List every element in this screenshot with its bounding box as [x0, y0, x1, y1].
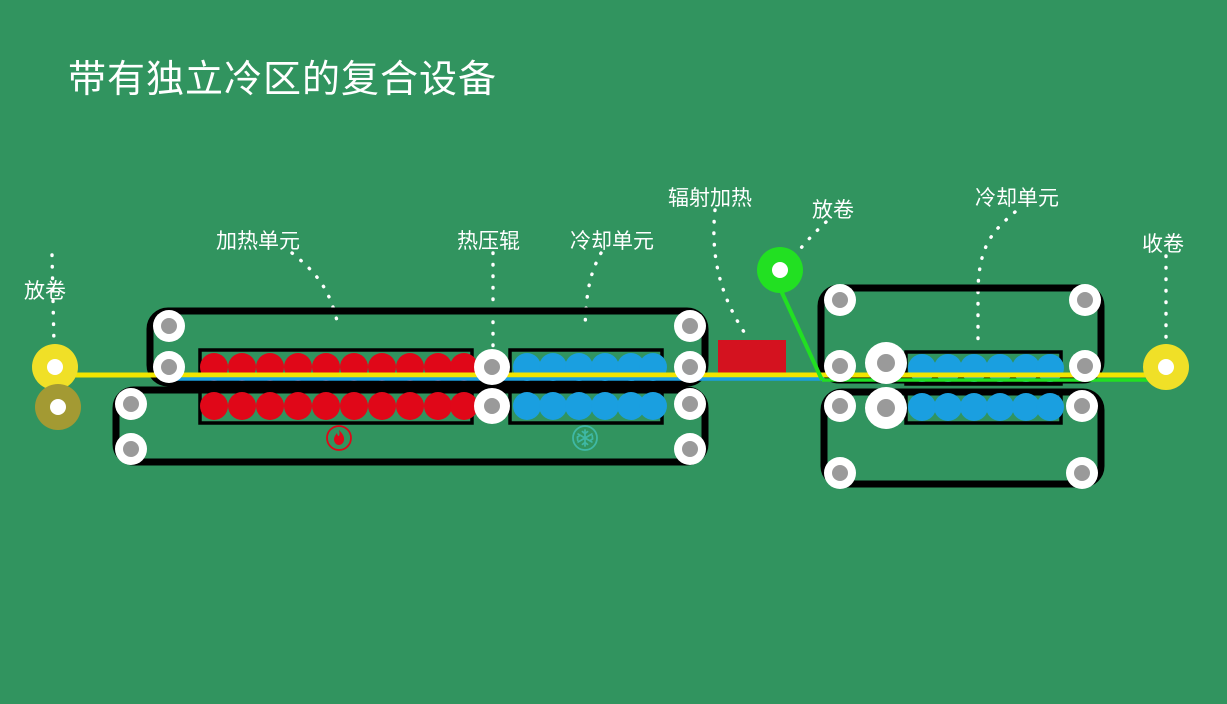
leader-unwind-right	[792, 222, 826, 260]
roller-left-bottom-out-upper	[674, 388, 706, 420]
roller-right-bottom-out-lower	[1066, 457, 1098, 489]
roller-right-top-nip	[865, 342, 907, 384]
leader-unwind-left	[52, 255, 54, 345]
roller-right-bottom-nip	[865, 387, 907, 429]
roller-left-bottom-out-lower	[674, 433, 706, 465]
roller-right-bottom-in-lower	[824, 457, 856, 489]
roller-left-top-out-upper	[674, 310, 706, 342]
right-cooling-circles-bottom	[908, 393, 1064, 421]
roller-right-bottom-out-upper	[1066, 390, 1098, 422]
radiant-heater-block	[718, 340, 786, 374]
leader-cooling-right	[978, 212, 1015, 348]
roller-right-top-in-lower	[824, 350, 856, 382]
unwind-roll-green[interactable]	[757, 247, 803, 293]
flame-icon	[327, 426, 351, 450]
leader-radiant	[714, 210, 748, 338]
hot-press-roller-bottom	[474, 388, 510, 424]
snowflake-icon	[573, 426, 597, 450]
unwind-roll-top[interactable]	[32, 344, 78, 390]
roller-right-top-out-lower	[1069, 350, 1101, 382]
machine-diagram	[0, 0, 1227, 704]
roller-left-bottom-in-upper	[115, 388, 147, 420]
roller-left-bottom-in-lower	[115, 433, 147, 465]
roller-right-top-out-upper	[1069, 284, 1101, 316]
diagram-stage: 带有独立冷区的复合设备 放卷 加热单元 热压辊 冷却单元 辐射加热 放卷 冷却单…	[0, 0, 1227, 704]
roller-left-top-in-upper	[153, 310, 185, 342]
heating-circles-bottom	[200, 392, 478, 420]
rewind-roll[interactable]	[1143, 344, 1189, 390]
unwind-roll-bottom[interactable]	[35, 384, 81, 430]
roller-right-top-in-upper	[824, 284, 856, 316]
roller-right-bottom-in-upper	[824, 390, 856, 422]
leader-cooling-left	[585, 253, 601, 330]
roller-left-top-out-lower	[674, 351, 706, 383]
hot-press-roller-top	[474, 349, 510, 385]
leader-lines	[52, 210, 1166, 350]
cooling-circles-bottom	[513, 392, 667, 420]
roller-left-top-in-lower	[153, 351, 185, 383]
